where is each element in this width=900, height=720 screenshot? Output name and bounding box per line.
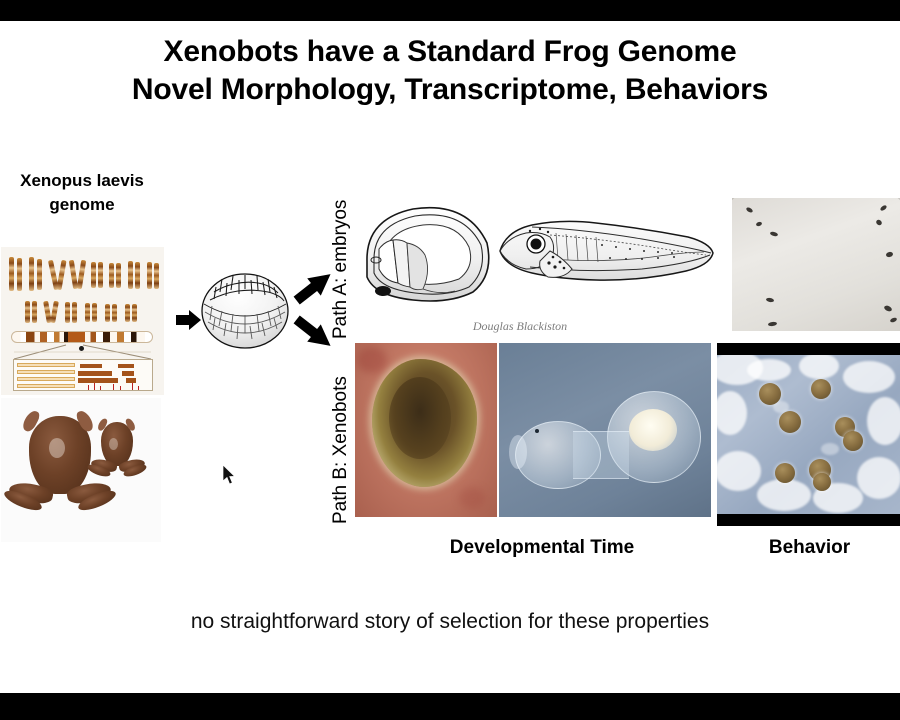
arrow-right-icon bbox=[176, 309, 202, 331]
dish-rim bbox=[732, 198, 900, 331]
xenobot-behavior-photo bbox=[717, 343, 900, 526]
xenobot-particle bbox=[813, 473, 831, 491]
slide-root: Xenobots have a Standard Frog Genome Nov… bbox=[0, 0, 900, 720]
blastula-cell-sphere-diagram bbox=[200, 270, 290, 350]
petri-dish-photo bbox=[732, 198, 900, 331]
letterbox-bottom bbox=[0, 693, 900, 720]
path-a-label: Path A: embryos bbox=[330, 200, 352, 339]
title-line-2: Novel Morphology, Transcriptome, Behavio… bbox=[0, 71, 900, 109]
page-title: Xenobots have a Standard Frog Genome Nov… bbox=[0, 33, 900, 109]
genome-label-line-1: Xenopus laevis bbox=[2, 169, 162, 193]
slide-canvas: Xenobots have a Standard Frog Genome Nov… bbox=[0, 21, 900, 693]
curled-embryo-line-drawing bbox=[357, 197, 497, 307]
xenobot-particle bbox=[775, 463, 795, 483]
xenobot-explant-photo bbox=[355, 343, 497, 517]
tadpole-line-drawing bbox=[492, 207, 717, 297]
xenobot-timelapse-photo bbox=[499, 343, 711, 517]
behavior-caption: Behavior bbox=[742, 537, 877, 559]
footer-text: no straightforward story of selection fo… bbox=[0, 610, 900, 634]
genome-label: Xenopus laevis genome bbox=[2, 169, 162, 217]
letterbox-top bbox=[0, 0, 900, 21]
mouse-pointer-icon bbox=[223, 465, 237, 485]
behavior-inner-frame bbox=[717, 355, 900, 514]
xenobot-pigment-patch bbox=[629, 409, 677, 451]
genome-browser-panel bbox=[13, 359, 153, 391]
xenobot-particle bbox=[843, 431, 863, 451]
karyotype-figure bbox=[1, 247, 164, 395]
developmental-time-caption: Developmental Time bbox=[437, 537, 647, 559]
xenobot-particle bbox=[811, 379, 831, 399]
xenobot-particle bbox=[779, 411, 801, 433]
frog-photo bbox=[1, 398, 161, 542]
chromosome-ideogram bbox=[11, 331, 153, 343]
genome-label-line-2: genome bbox=[2, 193, 162, 217]
xenobot-particle bbox=[759, 383, 781, 405]
image-credit: Douglas Blackiston bbox=[430, 319, 610, 334]
title-line-1: Xenobots have a Standard Frog Genome bbox=[0, 33, 900, 71]
path-b-label: Path B: Xenobots bbox=[330, 376, 352, 524]
